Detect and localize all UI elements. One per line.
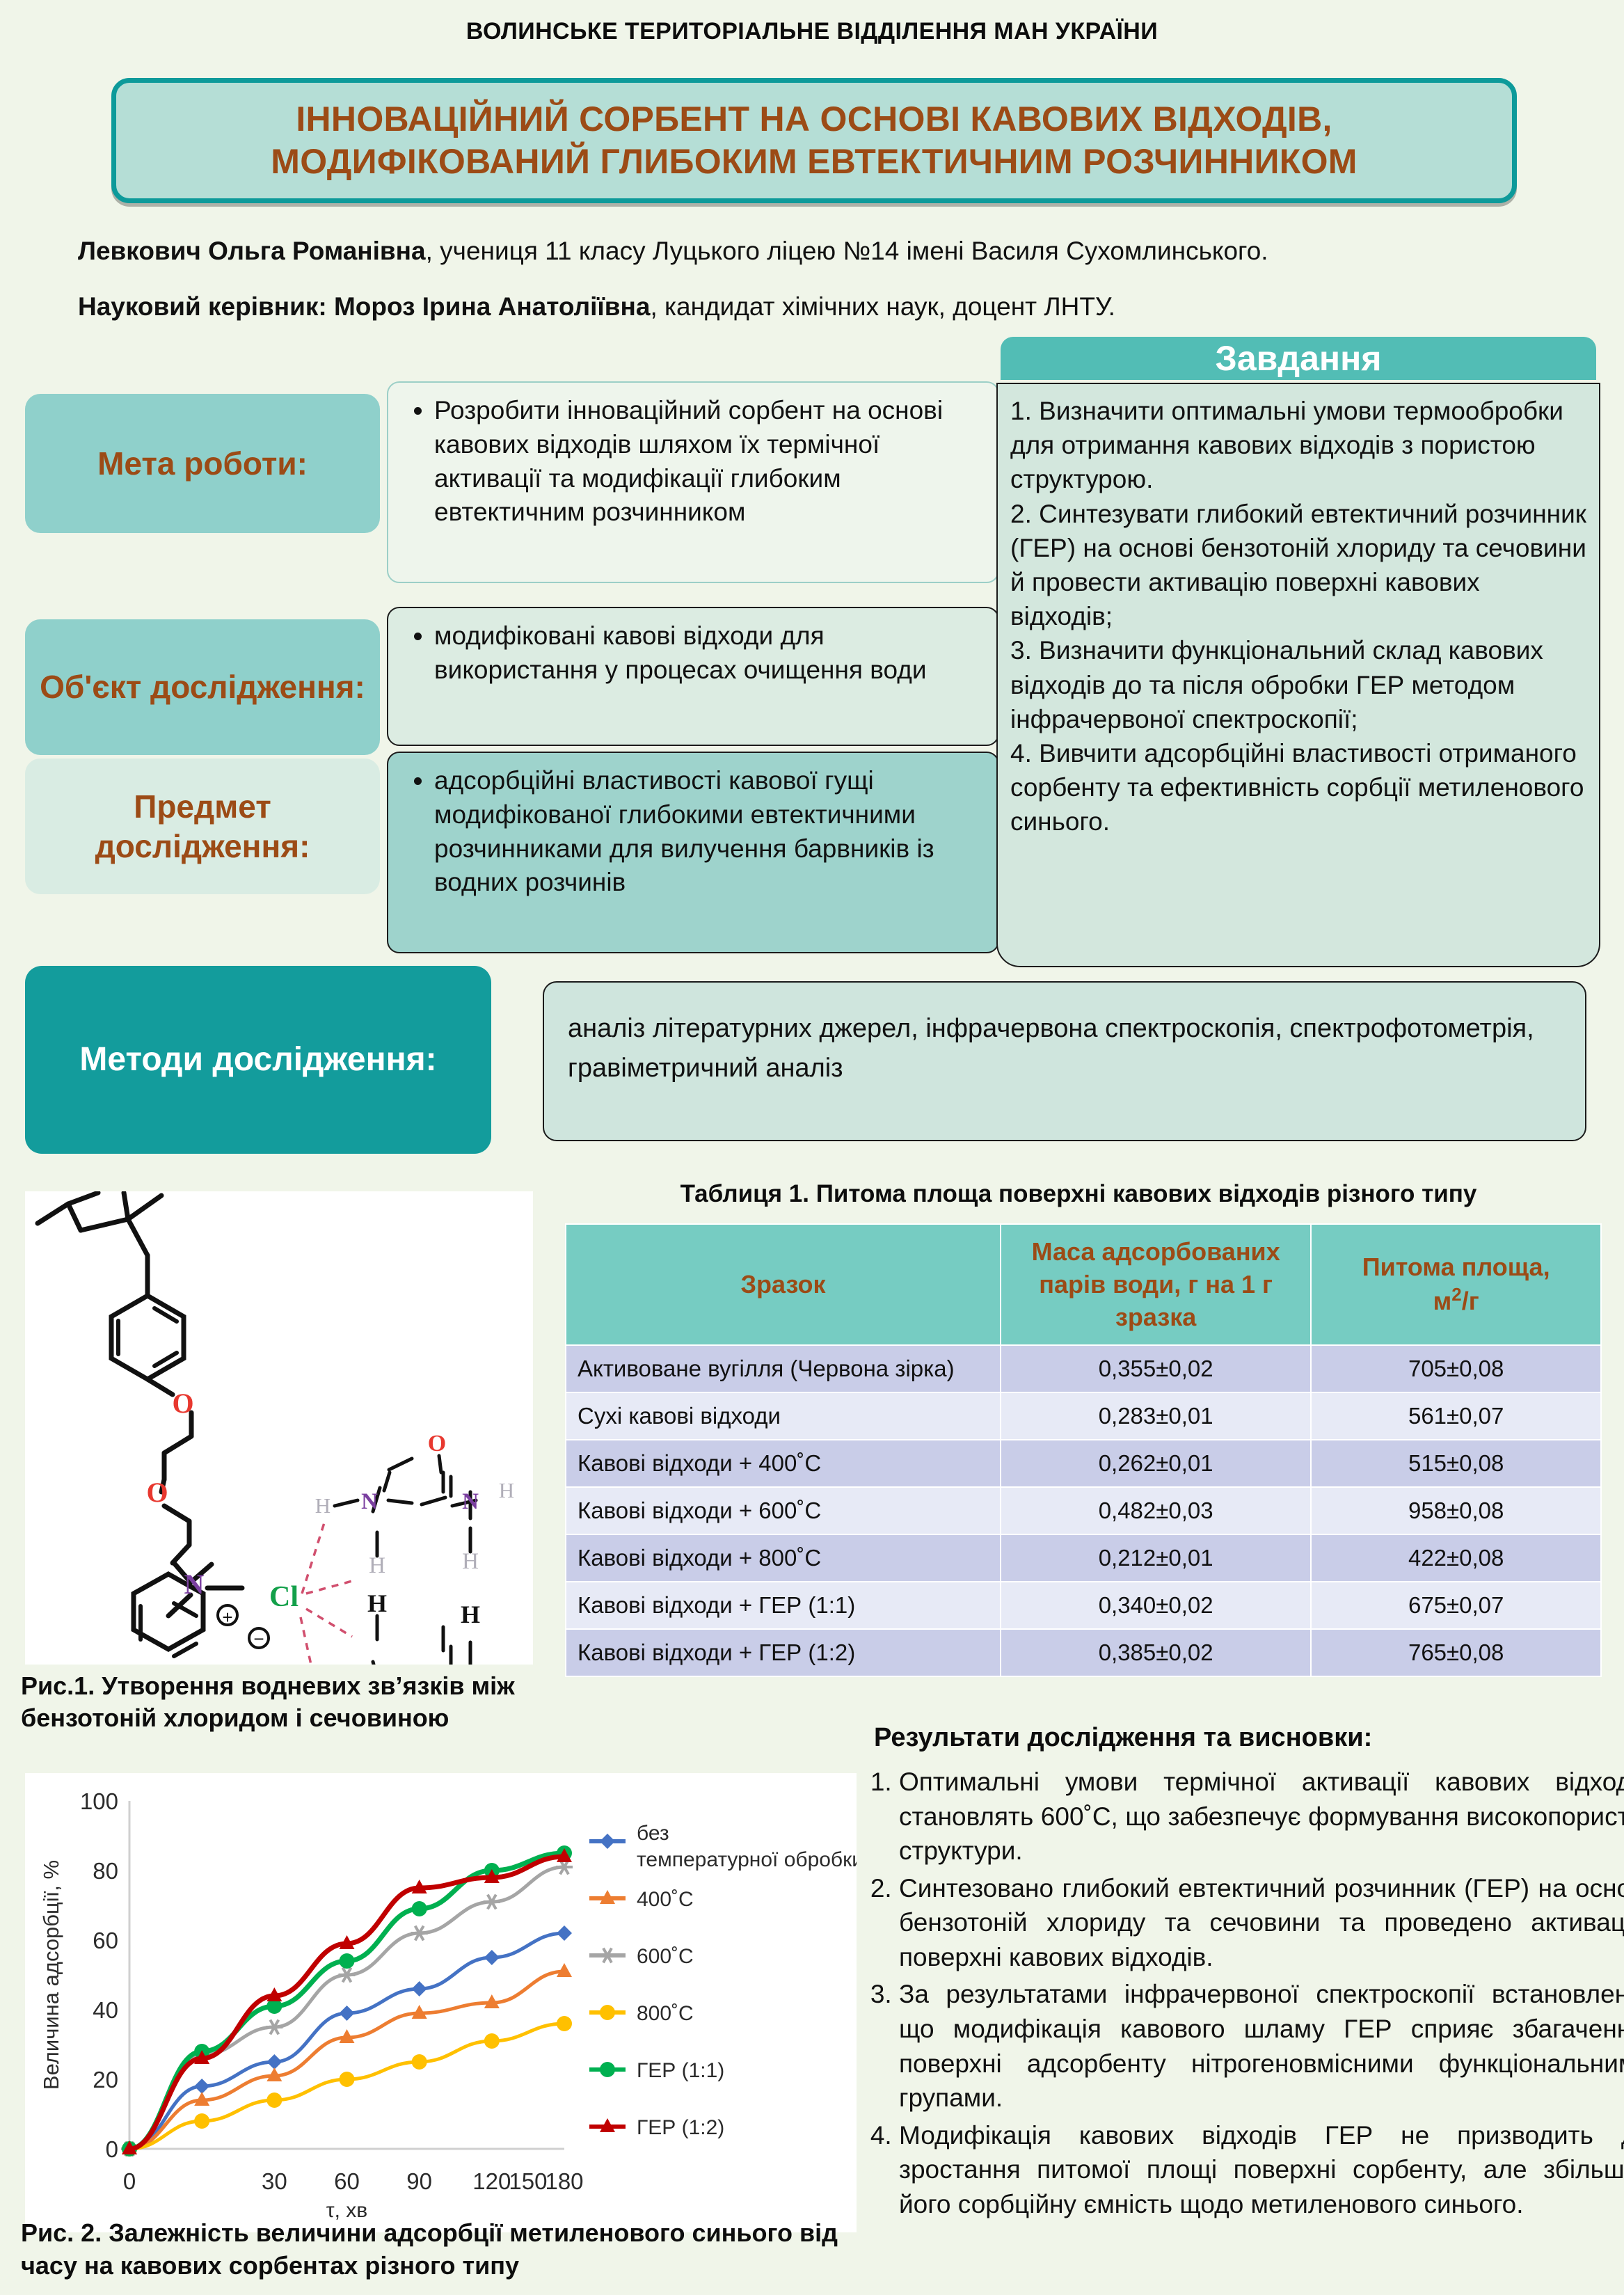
svg-text:400˚С: 400˚С	[637, 1888, 694, 1911]
cell-sample: Сухі кавові відходи	[566, 1392, 1001, 1440]
cell-area: 422±0,08	[1311, 1534, 1601, 1582]
hydrogen-atom-label: H	[369, 1553, 385, 1578]
svg-text:0: 0	[106, 2136, 118, 2162]
hydrogen-atom-label: H	[461, 1601, 480, 1628]
object-text: модифіковані кавові відходи для використ…	[434, 619, 982, 688]
negative-charge-icon: −	[249, 1628, 269, 1649]
figure1-caption: Рис.1. Утворення водневих зв’язків між б…	[21, 1670, 550, 1734]
cell-mass: 0,385±0,02	[1001, 1629, 1311, 1676]
result-item: Модифікація кавових відходів ГЕР не приз…	[899, 2118, 1624, 2222]
hydrogen-atom-label: H	[315, 1493, 331, 1518]
cell-area: 561±0,07	[1311, 1392, 1601, 1440]
cell-area: 515±0,08	[1311, 1440, 1601, 1487]
svg-text:без: без	[637, 1822, 669, 1845]
table-row: Кавові відходи + 600˚С0,482±0,03958±0,08	[566, 1487, 1601, 1534]
svg-text:Величина адсорбції, %: Величина адсорбції, %	[39, 1860, 63, 2090]
cell-area: 765±0,08	[1311, 1629, 1601, 1676]
supervisor-name: Мороз Ірина Анатоліївна	[334, 292, 650, 321]
object-box: модифіковані кавові відходи для використ…	[387, 607, 999, 746]
svg-text:800˚С: 800˚С	[637, 2002, 694, 2025]
hydrogen-atom-label: H	[499, 1478, 514, 1502]
goal-label: Мета роботи:	[25, 394, 380, 533]
tasks-box: 1. Визначити оптимальні умови термооброб…	[996, 383, 1600, 967]
adsorption-chart: 0204060801000306090120150180Величина адс…	[25, 1773, 857, 2232]
urea-molecule-bottom: H N H H N H O	[318, 1589, 516, 1665]
cell-mass: 0,482±0,03	[1001, 1487, 1311, 1534]
svg-text:ГЕР (1:1): ГЕР (1:1)	[637, 2059, 724, 2082]
table-col-sample: Зразок	[566, 1224, 1001, 1345]
cell-mass: 0,355±0,02	[1001, 1345, 1311, 1392]
svg-text:150: 150	[509, 2168, 547, 2194]
svg-text:ГЕР (1:2): ГЕР (1:2)	[637, 2116, 724, 2139]
organization-line: ВОЛИНСЬКЕ ТЕРИТОРІАЛЬНЕ ВІДДІЛЕННЯ МАН У…	[0, 18, 1624, 45]
svg-text:100: 100	[80, 1788, 118, 1814]
table-row: Активоване вугілля (Червона зірка)0,355±…	[566, 1345, 1601, 1392]
svg-text:80: 80	[93, 1858, 118, 1884]
tasks-header: Завдання	[1001, 337, 1596, 380]
supervisor-line: Науковий керівник: Мороз Ірина Анатоліїв…	[78, 292, 1595, 321]
table-caption: Таблиця 1. Питома площа поверхні кавових…	[557, 1180, 1600, 1208]
svg-text:20: 20	[93, 2067, 118, 2092]
table-col-mass: Маса адсорбованих парів води, г на 1 г з…	[1001, 1224, 1311, 1345]
positive-charge-icon: +	[218, 1605, 237, 1628]
cell-sample: Кавові відходи + 800˚С	[566, 1534, 1001, 1582]
subject-label: Предмет дослідження:	[25, 759, 380, 894]
svg-text:90: 90	[406, 2168, 432, 2194]
nitrogen-atom-label: N	[361, 1489, 378, 1514]
cell-mass: 0,283±0,01	[1001, 1392, 1311, 1440]
result-item: Синтезовано глибокий евтектичний розчинн…	[899, 1871, 1624, 1975]
goal-text: Розробити інноваційний сорбент на основі…	[434, 394, 982, 530]
table-col-area: Питома площа, м2/г	[1311, 1224, 1601, 1345]
svg-text:120: 120	[472, 2168, 511, 2194]
student-line: Левкович Ольга Романівна, учениця 11 кла…	[78, 237, 1595, 266]
result-item: Оптимальні умови термічної активації кав…	[899, 1765, 1624, 1868]
table-col-area-unit-post: /г	[1462, 1287, 1479, 1315]
hydrogen-atom-label: H	[367, 1589, 387, 1617]
student-affiliation: , учениця 11 класу Луцького ліцею №14 ім…	[426, 237, 1268, 265]
figure1-image: O O N + − Cl	[25, 1191, 533, 1665]
poster-title-line1: ІННОВАЦІЙНИЙ СОРБЕНТ НА ОСНОВІ КАВОВИХ В…	[296, 100, 1332, 138]
table-header-row: Зразок Маса адсорбованих парів води, г н…	[566, 1224, 1601, 1345]
task-item: 1. Визначити оптимальні умови термооброб…	[1010, 394, 1586, 497]
cell-sample: Кавові відходи + ГЕР (1:1)	[566, 1582, 1001, 1629]
results-header: Результати дослідження та висновки:	[874, 1723, 1605, 1753]
poster-title-box: ІННОВАЦІЙНИЙ СОРБЕНТ НА ОСНОВІ КАВОВИХ В…	[111, 78, 1517, 203]
cell-mass: 0,340±0,02	[1001, 1582, 1311, 1629]
figure2-caption: Рис. 2. Залежність величини адсорбції ме…	[21, 2217, 842, 2282]
supervisor-affiliation: , кандидат хімічних наук, доцент ЛНТУ.	[650, 292, 1115, 321]
goal-box: Розробити інноваційний сорбент на основі…	[387, 381, 999, 583]
object-label: Об'єкт дослідження:	[25, 619, 380, 755]
cell-sample: Кавові відходи + 400˚С	[566, 1440, 1001, 1487]
poster-title-line2: МОДИФІКОВАНИЙ ГЛИБОКИМ ЕВТЕКТИЧНИМ РОЗЧИ…	[271, 142, 1357, 181]
svg-text:40: 40	[93, 1997, 118, 2023]
poster-title: ІННОВАЦІЙНИЙ СОРБЕНТ НА ОСНОВІ КАВОВИХ В…	[271, 98, 1357, 183]
result-item: За результатами інфрачервоної спектроско…	[899, 1977, 1624, 2115]
hydrogen-atom-label: H	[462, 1549, 479, 1574]
svg-text:60: 60	[93, 1928, 118, 1953]
table-row: Кавові відходи + 800˚С0,212±0,01422±0,08	[566, 1534, 1601, 1582]
oxygen-atom-label: O	[428, 1431, 446, 1456]
svg-text:600˚С: 600˚С	[637, 1945, 694, 1968]
cell-mass: 0,212±0,01	[1001, 1534, 1311, 1582]
svg-text:180: 180	[545, 2168, 583, 2194]
urea-molecule-top: H N H O N H H	[315, 1431, 514, 1578]
oxygen-atom-label: O	[146, 1477, 168, 1508]
surface-area-table: Зразок Маса адсорбованих парів води, г н…	[565, 1223, 1602, 1677]
subject-text: адсорбційні властивості кавової гущі мод…	[434, 764, 982, 900]
cell-sample: Активоване вугілля (Червона зірка)	[566, 1345, 1001, 1392]
table-row: Кавові відходи + ГЕР (1:1)0,340±0,02675±…	[566, 1582, 1601, 1629]
student-name: Левкович Ольга Романівна	[78, 237, 426, 265]
svg-text:−: −	[253, 1628, 264, 1649]
cell-area: 675±0,07	[1311, 1582, 1601, 1629]
supervisor-label: Науковий керівник:	[78, 292, 327, 321]
results-list: Оптимальні умови термічної активації кав…	[857, 1765, 1624, 2225]
nitrogen-atom-label: N	[462, 1489, 479, 1514]
cell-sample: Кавові відходи + 600˚С	[566, 1487, 1001, 1534]
svg-text:температурної обробки: температурної обробки	[637, 1848, 857, 1871]
chloride-atom-label: Cl	[269, 1581, 298, 1613]
task-item: 4. Вивчити адсорбційні властивості отрим…	[1010, 736, 1586, 839]
table-row: Сухі кавові відходи0,283±0,01561±0,07	[566, 1392, 1601, 1440]
task-item: 2. Синтезувати глибокий евтектичний розч…	[1010, 497, 1586, 634]
task-item: 3. Визначити функціональний склад кавови…	[1010, 633, 1586, 736]
table-col-area-unit-base: м	[1433, 1287, 1452, 1315]
hydrogen-bond-lines	[301, 1518, 352, 1665]
cell-area: 705±0,08	[1311, 1345, 1601, 1392]
methods-label: Методи дослідження:	[25, 966, 491, 1154]
oxygen-atom-label: O	[172, 1388, 193, 1419]
methods-box: аналіз літературних джерел, інфрачервона…	[543, 981, 1586, 1141]
table-col-area-text: Питома площа,	[1362, 1253, 1550, 1281]
cell-area: 958±0,08	[1311, 1487, 1601, 1534]
subject-box: адсорбційні властивості кавової гущі мод…	[387, 752, 999, 953]
poster-root: ВОЛИНСЬКЕ ТЕРИТОРІАЛЬНЕ ВІДДІЛЕННЯ МАН У…	[0, 0, 1624, 2295]
table-row: Кавові відходи + ГЕР (1:2)0,385±0,02765±…	[566, 1629, 1601, 1676]
table-col-area-unit-sup: 2	[1451, 1285, 1461, 1305]
svg-text:+: +	[222, 1607, 232, 1628]
cell-sample: Кавові відходи + ГЕР (1:2)	[566, 1629, 1001, 1676]
svg-text:0: 0	[123, 2168, 136, 2194]
svg-text:60: 60	[334, 2168, 360, 2194]
svg-text:30: 30	[262, 2168, 287, 2194]
cell-mass: 0,262±0,01	[1001, 1440, 1311, 1487]
table-row: Кавові відходи + 400˚С0,262±0,01515±0,08	[566, 1440, 1601, 1487]
nitrogen-atom-label: N	[184, 1569, 205, 1600]
